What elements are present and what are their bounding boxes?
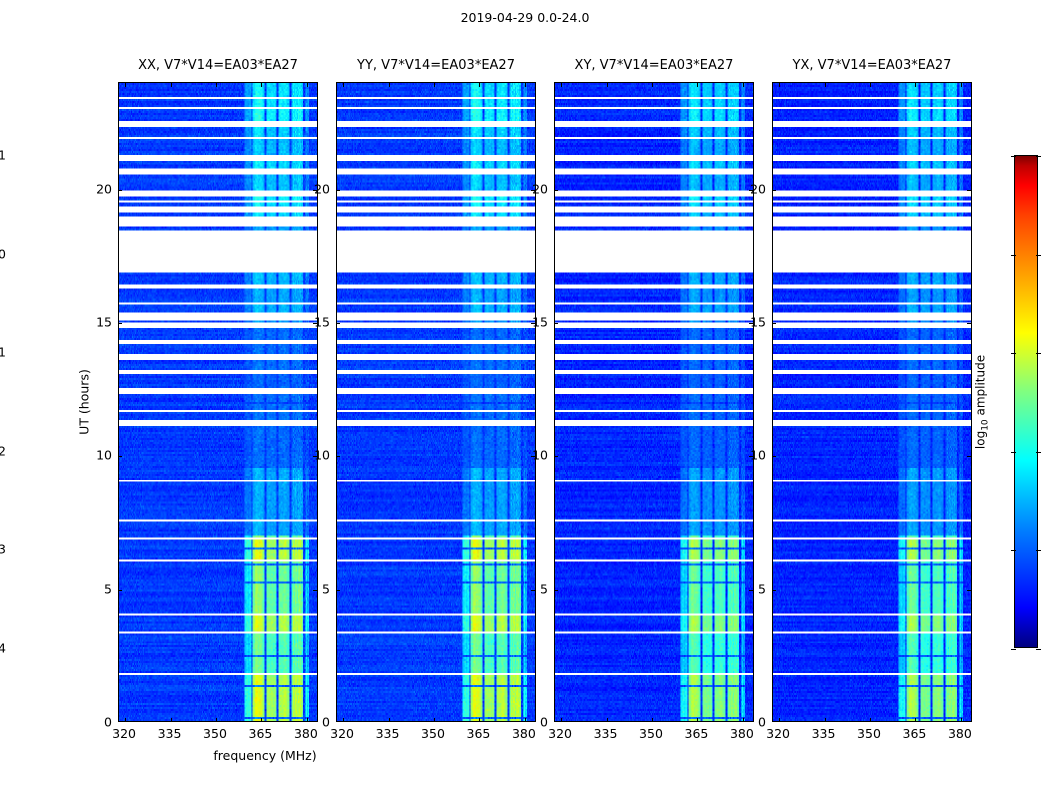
y-tick-mark-right — [967, 590, 971, 591]
panel-xy[interactable]: XY, V7*V14=EA03*EA27 320335350365380 — [554, 82, 754, 722]
x-tick-mark-top — [825, 83, 826, 87]
colorbar-tick-mark — [1011, 550, 1016, 551]
y-tick-label: 5 — [84, 581, 112, 596]
colorbar-tick-mark — [1011, 452, 1016, 453]
x-tick-label: 365 — [466, 726, 490, 741]
colorbar-label-suffix: amplitude — [974, 355, 988, 419]
y-tick-label: 15 — [520, 315, 548, 330]
panel-title-xy: XY, V7*V14=EA03*EA27 — [554, 58, 754, 73]
y-tick-label: 15 — [302, 315, 330, 330]
x-tick-mark — [652, 718, 653, 722]
colorbar-label-prefix: log — [974, 431, 988, 449]
y-tick-label: 0 — [520, 715, 548, 730]
x-tick-label: 350 — [203, 726, 227, 741]
x-tick-label: 335 — [158, 726, 182, 741]
x-tick-label: 350 — [857, 726, 881, 741]
x-tick-mark-top — [915, 83, 916, 87]
y-tick-mark-right — [967, 323, 971, 324]
colorbar-tick-label: −2 — [0, 443, 6, 458]
panel-yy[interactable]: YY, V7*V14=EA03*EA27 320335350365380 — [336, 82, 536, 722]
x-tick-mark-top — [125, 83, 126, 87]
y-tick-label: 0 — [738, 715, 766, 730]
colorbar-tick-mark-right — [1036, 649, 1041, 650]
colorbar-tick-mark-right — [1036, 452, 1041, 453]
y-tick-mark — [554, 590, 558, 591]
x-axis-label-text: frequency (MHz) — [213, 748, 316, 763]
colorbar-tick-mark — [1011, 255, 1016, 256]
x-tick-mark-top — [389, 83, 390, 87]
x-tick-label: 320 — [766, 726, 790, 741]
x-tick-mark-top — [434, 83, 435, 87]
colorbar-tick-mark — [1011, 649, 1016, 650]
y-tick-label: 0 — [84, 715, 112, 730]
x-tick-mark — [825, 718, 826, 722]
y-tick-mark — [336, 590, 340, 591]
x-tick-mark — [434, 718, 435, 722]
x-tick-mark — [697, 718, 698, 722]
y-tick-label: 5 — [520, 581, 548, 596]
y-tick-mark — [118, 590, 122, 591]
x-tick-mark-top — [870, 83, 871, 87]
panel-title-yx: YX, V7*V14=EA03*EA27 — [772, 58, 972, 73]
y-tick-label: 20 — [84, 181, 112, 196]
y-tick-mark — [118, 190, 122, 191]
x-tick-label: 365 — [684, 726, 708, 741]
x-tick-label: 335 — [812, 726, 836, 741]
x-tick-mark-top — [607, 83, 608, 87]
panel-yx[interactable]: YX, V7*V14=EA03*EA27 320335350365380 — [772, 82, 972, 722]
x-tick-mark-top — [779, 83, 780, 87]
colorbar-tick-mark-right — [1036, 255, 1041, 256]
x-tick-mark — [961, 718, 962, 722]
figure-canvas: 2019-04-29 0.0-24.0 XX, V7*V14=EA03*EA27… — [0, 0, 1050, 800]
y-tick-mark — [772, 323, 776, 324]
axes-xy[interactable] — [554, 82, 754, 722]
y-tick-label: 5 — [302, 581, 330, 596]
spectrogram-xx — [119, 83, 317, 721]
colorbar-tick-mark-right — [1036, 353, 1041, 354]
colorbar-tick-mark — [1011, 156, 1016, 157]
x-tick-mark — [870, 718, 871, 722]
y-tick-label: 15 — [738, 315, 766, 330]
x-tick-mark — [216, 718, 217, 722]
x-tick-mark — [171, 718, 172, 722]
spectrogram-yx — [773, 83, 971, 721]
x-tick-mark-top — [343, 83, 344, 87]
axes-xx[interactable] — [118, 82, 318, 722]
y-tick-mark — [118, 456, 122, 457]
y-tick-label: 20 — [520, 181, 548, 196]
y-tick-mark — [554, 190, 558, 191]
x-tick-mark-top — [261, 83, 262, 87]
x-tick-label: 320 — [112, 726, 136, 741]
colorbar-label-subscript: 10 — [980, 419, 990, 430]
colorbar[interactable] — [1014, 155, 1038, 648]
y-axis-label: UT (hours) — [77, 369, 92, 435]
x-tick-mark-top — [961, 83, 962, 87]
x-tick-mark-top — [743, 83, 744, 87]
y-tick-mark — [772, 190, 776, 191]
y-tick-label: 10 — [520, 448, 548, 463]
y-tick-mark — [118, 323, 122, 324]
x-tick-label: 320 — [548, 726, 572, 741]
x-tick-mark-top — [307, 83, 308, 87]
x-tick-label: 320 — [330, 726, 354, 741]
y-tick-mark — [336, 323, 340, 324]
x-tick-label: 350 — [639, 726, 663, 741]
x-tick-mark — [607, 718, 608, 722]
x-tick-mark-top — [171, 83, 172, 87]
y-tick-label: 20 — [738, 181, 766, 196]
y-tick-mark — [772, 456, 776, 457]
colorbar-tick-label: 1 — [0, 148, 6, 163]
y-tick-mark — [336, 190, 340, 191]
y-tick-label: 10 — [302, 448, 330, 463]
colorbar-tick-mark-right — [1036, 550, 1041, 551]
y-tick-label: 20 — [302, 181, 330, 196]
x-tick-mark-top — [561, 83, 562, 87]
axes-yy[interactable] — [336, 82, 536, 722]
axes-yx[interactable] — [772, 82, 972, 722]
y-tick-label: 5 — [738, 581, 766, 596]
x-tick-mark — [561, 718, 562, 722]
y-tick-mark-right — [967, 190, 971, 191]
x-tick-mark — [779, 718, 780, 722]
colorbar-label: log10 amplitude — [974, 355, 991, 449]
y-tick-label: 10 — [738, 448, 766, 463]
x-tick-mark — [343, 718, 344, 722]
x-tick-mark-top — [652, 83, 653, 87]
x-tick-label: 380 — [948, 726, 972, 741]
x-tick-mark-top — [525, 83, 526, 87]
spectrogram-yy — [337, 83, 535, 721]
x-tick-mark — [915, 718, 916, 722]
x-tick-label: 335 — [376, 726, 400, 741]
x-tick-label: 365 — [902, 726, 926, 741]
panel-xx[interactable]: XX, V7*V14=EA03*EA27 320335350365380 — [118, 82, 318, 722]
y-tick-label: 10 — [84, 448, 112, 463]
colorbar-tick-label: −1 — [0, 345, 6, 360]
y-tick-mark-right — [967, 456, 971, 457]
x-tick-mark — [261, 718, 262, 722]
y-tick-mark — [554, 456, 558, 457]
x-tick-mark — [389, 718, 390, 722]
x-tick-mark-top — [697, 83, 698, 87]
x-tick-label: 335 — [594, 726, 618, 741]
panel-title-yy: YY, V7*V14=EA03*EA27 — [336, 58, 536, 73]
panel-title-xx: XX, V7*V14=EA03*EA27 — [118, 58, 318, 73]
y-tick-mark — [336, 456, 340, 457]
x-tick-mark — [479, 718, 480, 722]
y-tick-mark — [554, 323, 558, 324]
x-tick-mark — [125, 718, 126, 722]
y-tick-label: 0 — [302, 715, 330, 730]
x-tick-label: 350 — [421, 726, 445, 741]
y-tick-label: 15 — [84, 315, 112, 330]
colorbar-tick-mark — [1011, 353, 1016, 354]
figure-suptitle: 2019-04-29 0.0-24.0 — [0, 10, 1050, 25]
x-axis-label: frequency (MHz) — [0, 748, 1050, 763]
colorbar-tick-mark-right — [1036, 156, 1041, 157]
colorbar-tick-label: −4 — [0, 641, 6, 656]
y-tick-mark — [772, 590, 776, 591]
spectrogram-xy — [555, 83, 753, 721]
colorbar-tick-label: −3 — [0, 542, 6, 557]
x-tick-label: 365 — [248, 726, 272, 741]
x-tick-mark-top — [216, 83, 217, 87]
colorbar-tick-label: 0 — [0, 246, 6, 261]
x-tick-mark-top — [479, 83, 480, 87]
